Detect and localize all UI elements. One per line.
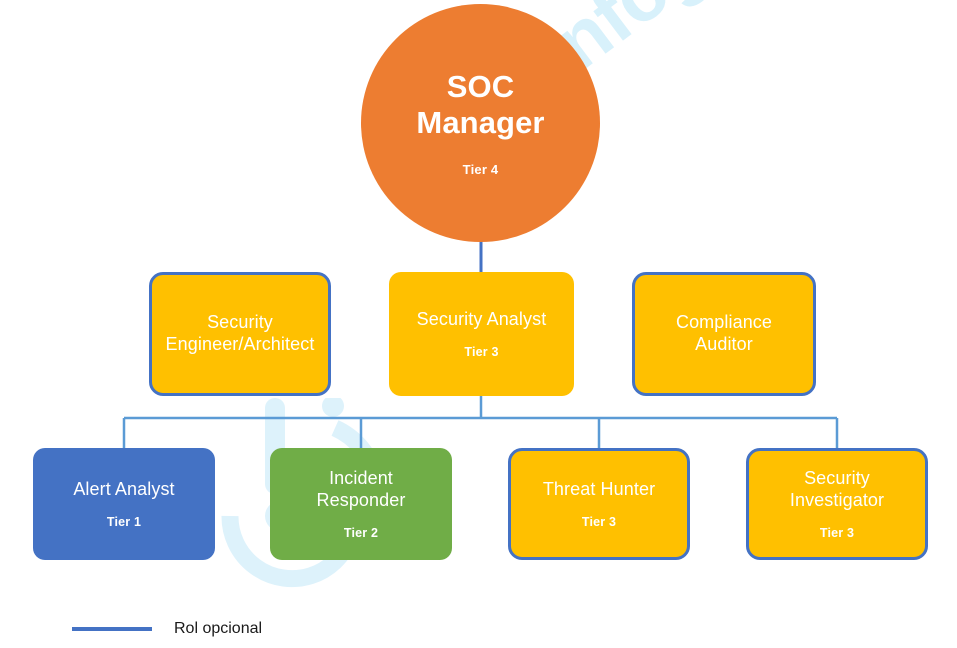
node-alert-analyst[interactable]: Alert Analyst Tier 1: [33, 448, 215, 560]
node-security-engineer-architect[interactable]: Security Engineer/Architect: [149, 272, 331, 396]
node-incident-responder[interactable]: Incident Responder Tier 2: [270, 448, 452, 560]
node-incident-responder-tier: Tier 2: [344, 526, 378, 540]
node-compliance-auditor-title: Compliance Auditor: [676, 312, 772, 356]
node-security-investigator[interactable]: Security Investigator Tier 3: [746, 448, 928, 560]
node-soc-manager-title: SOC Manager: [416, 69, 544, 140]
node-threat-hunter-tier: Tier 3: [582, 515, 616, 529]
node-alert-analyst-title: Alert Analyst: [73, 479, 174, 501]
node-soc-manager[interactable]: SOC Manager Tier 4: [361, 4, 600, 242]
node-threat-hunter-title: Threat Hunter: [543, 479, 655, 501]
node-incident-responder-title: Incident Responder: [317, 468, 406, 512]
node-alert-analyst-tier: Tier 1: [107, 515, 141, 529]
legend: Rol opcional: [72, 620, 262, 638]
node-security-analyst-title: Security Analyst: [417, 309, 547, 331]
legend-label-rol-opcional: Rol opcional: [174, 620, 262, 638]
node-security-engineer-architect-title: Security Engineer/Architect: [166, 312, 315, 356]
diagram-canvas: Infografos SOC Manager Tier 4: [0, 0, 957, 648]
node-compliance-auditor[interactable]: Compliance Auditor: [632, 272, 816, 396]
node-security-investigator-tier: Tier 3: [820, 526, 854, 540]
node-security-investigator-title: Security Investigator: [790, 468, 884, 512]
node-soc-manager-tier: Tier 4: [463, 162, 499, 177]
node-security-analyst-tier: Tier 3: [464, 345, 498, 359]
node-threat-hunter[interactable]: Threat Hunter Tier 3: [508, 448, 690, 560]
node-security-analyst[interactable]: Security Analyst Tier 3: [389, 272, 574, 396]
legend-line-swatch: [72, 627, 152, 631]
